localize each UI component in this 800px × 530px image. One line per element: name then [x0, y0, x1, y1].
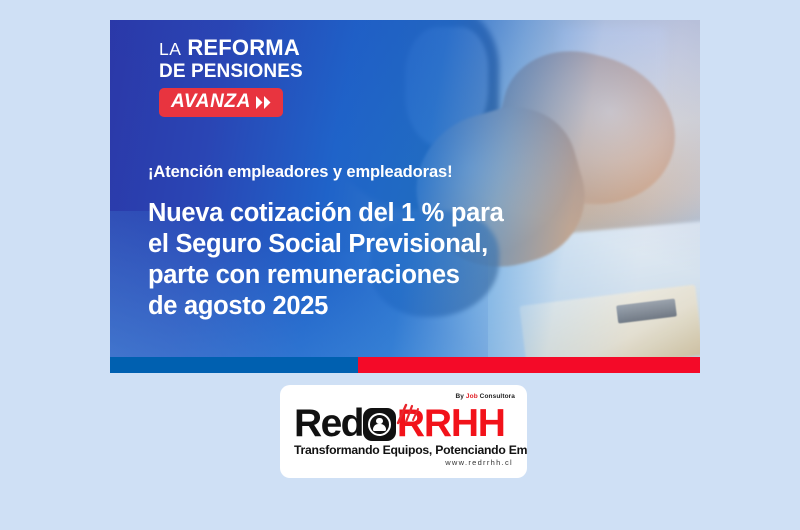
- avanza-badge: AVANZA: [159, 88, 283, 117]
- reforma-pensiones-logo: LA REFORMA DE PENSIONES AVANZA: [159, 37, 303, 117]
- headline-line: de agosto 2025: [148, 291, 504, 322]
- reforma-reforma-word: REFORMA: [187, 35, 300, 60]
- bottom-bar-red-segment: [358, 357, 700, 373]
- reforma-line-2: DE PENSIONES: [159, 60, 303, 83]
- headline-line: el Seguro Social Previsional,: [148, 229, 504, 260]
- banner-eyebrow-text: ¡Atención empleadores y empleadoras!: [148, 163, 453, 182]
- avanza-badge-label: AVANZA: [171, 91, 251, 113]
- byline-brand: Job: [466, 393, 478, 400]
- byline-prefix: By: [456, 393, 466, 400]
- logo-tagline: Transformando Equipos, Potenciando Empre…: [294, 443, 527, 457]
- reforma-la-word: LA: [159, 39, 181, 59]
- page-canvas: LA REFORMA DE PENSIONES AVANZA ¡Atención…: [0, 0, 800, 530]
- wordmark-red-text: Red: [294, 404, 363, 444]
- banner-bottom-bar: [110, 357, 700, 373]
- redrrhh-wordmark: Red RRHH: [294, 404, 505, 444]
- headline-line: parte con remuneraciones: [148, 260, 504, 291]
- byline-suffix: Consultora: [478, 393, 515, 400]
- bottom-bar-blue-segment: [110, 357, 358, 373]
- logo-site-url[interactable]: www.redrrhh.cl: [445, 458, 513, 467]
- double-chevron-right-icon: [256, 96, 272, 109]
- promo-banner: LA REFORMA DE PENSIONES AVANZA ¡Atención…: [110, 20, 700, 373]
- wordmark-rrhh-text: RRHH: [397, 404, 505, 444]
- person-circle-mark-icon: [363, 408, 396, 441]
- person-glyph: [368, 413, 391, 436]
- reforma-line-1: LA REFORMA: [159, 37, 303, 60]
- banner-headline: Nueva cotización del 1 % para el Seguro …: [148, 198, 504, 322]
- headline-line: Nueva cotización del 1 % para: [148, 198, 504, 229]
- redrrhh-logo-card: By Job Consultora Red RRHH Transformando…: [280, 385, 527, 478]
- byline-text: By Job Consultora: [456, 393, 516, 400]
